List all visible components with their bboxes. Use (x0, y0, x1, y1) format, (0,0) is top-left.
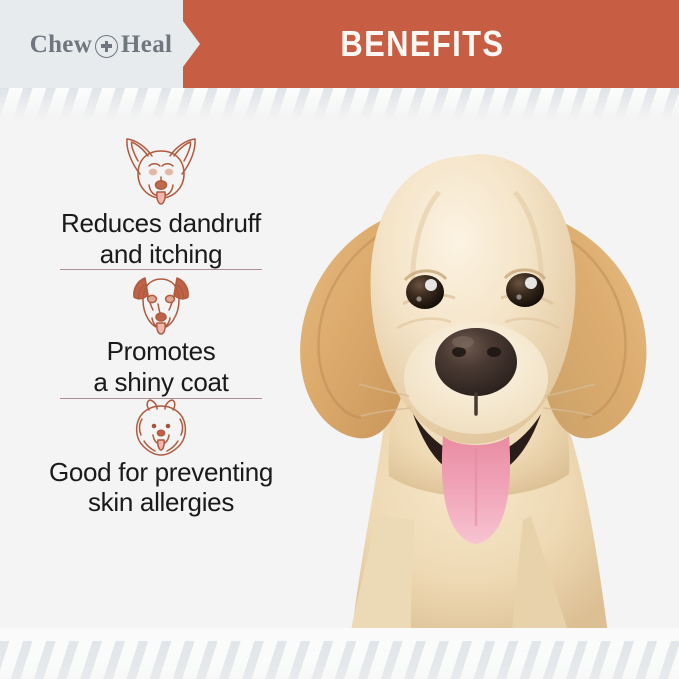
benefit-item-3: Good for preventing skin allergies (0, 399, 322, 518)
bottom-stripe-spacer (0, 628, 679, 642)
header-bar: Chew Heal BENEFITS (0, 0, 679, 88)
labrador-puppy-photo (279, 96, 679, 641)
header-logo-panel: Chew Heal (0, 0, 200, 88)
plus-circle-icon (95, 35, 118, 58)
brand-word-heal: Heal (121, 31, 172, 59)
benefits-list: Reduces dandruff and itching Promotes a … (0, 130, 322, 518)
corgi-dog-face-icon (119, 130, 203, 208)
terrier-dog-face-icon (125, 270, 197, 336)
fluffy-dog-face-icon (130, 399, 192, 457)
benefit-item-1: Reduces dandruff and itching (0, 130, 322, 269)
bottom-stripe-band (0, 641, 679, 679)
benefit-label-1: Reduces dandruff and itching (0, 208, 322, 269)
benefit-label-2: Promotes a shiny coat (0, 336, 322, 397)
header-banner: BENEFITS (183, 0, 679, 88)
benefit-item-2: Promotes a shiny coat (0, 270, 322, 397)
page-title: BENEFITS (340, 23, 504, 65)
benefits-infographic: Reduces dandruff and itching Promotes a … (0, 0, 679, 679)
benefit-label-3: Good for preventing skin allergies (0, 457, 322, 518)
brand-word-chew: Chew (30, 31, 92, 59)
brand-logo[interactable]: Chew Heal (16, 30, 186, 60)
brand-logo-text: Chew Heal (30, 31, 173, 59)
